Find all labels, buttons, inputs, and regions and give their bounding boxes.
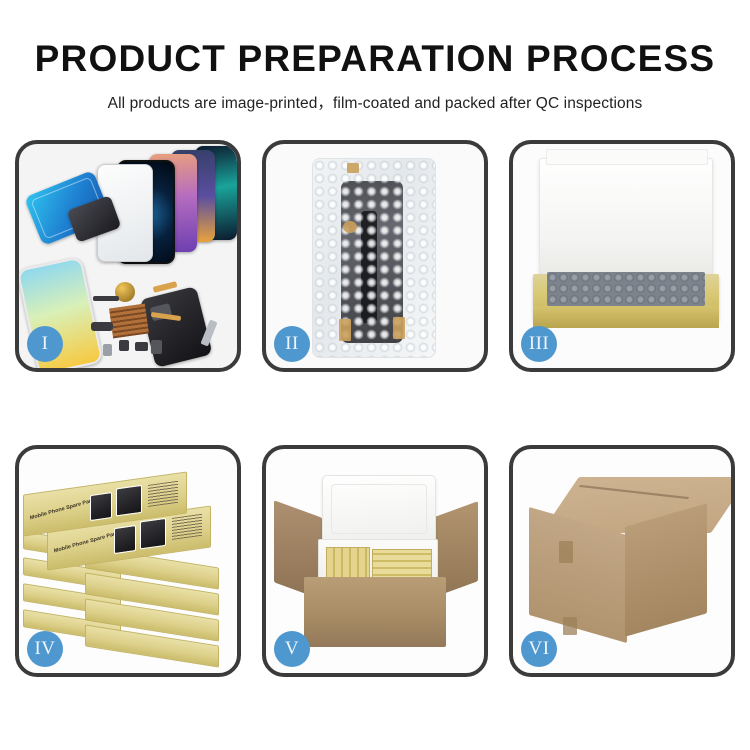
process-step-1: I [15,140,241,372]
step-badge-6: VI [521,631,557,667]
step-badge-3: III [521,326,557,362]
box-screen-image-1b [116,485,142,517]
small-part-5 [103,344,112,356]
step-5-image: V [266,449,484,673]
step-badge-5: V [274,631,310,667]
box-screen-image-2a [114,525,136,554]
yellow-box-front [533,306,719,328]
box-spec-lines-1 [148,481,178,507]
small-part-6 [151,340,162,354]
tape-bottom-right [393,317,405,339]
carton-body [304,577,446,647]
small-part-3 [119,340,129,351]
step-4-image: Mobile Phone Spare Parts Mobile Phone Sp… [19,449,237,673]
step-badge-1: I [27,326,63,362]
bubble-wrap-bag [312,158,436,358]
component-chip-grid [109,304,149,339]
carton-tape-upper [559,541,573,563]
small-part-1 [93,296,119,301]
step-badge-4: IV [27,631,63,667]
small-part-4 [135,342,148,351]
page-title: PRODUCT PREPARATION PROCESS [0,40,750,77]
gray-bubble-wrapped-items [547,272,705,306]
page-subtitle: All products are image-printed，film-coat… [0,91,750,113]
white-foam-lid [539,158,713,282]
process-step-4: Mobile Phone Spare Parts Mobile Phone Sp… [15,445,241,677]
box-screen-image-2b [140,518,166,550]
process-step-5: V [262,445,488,677]
step-2-image: II [266,144,484,368]
carton-tape-lower [563,617,577,635]
header: PRODUCT PREPARATION PROCESS All products… [0,0,750,113]
carton-right-face [625,503,707,637]
box-screen-image-1a [90,492,112,521]
box-label-1: Mobile Phone Spare Parts [30,497,97,521]
box-spec-lines-2 [172,514,202,540]
foam-box-lid [322,475,436,543]
small-part-2 [91,322,113,331]
step-1-image: I [19,144,237,368]
process-step-2: II [262,140,488,372]
process-step-grid: I II [15,140,735,677]
step-6-image: VI [513,449,731,673]
process-step-6: VI [509,445,735,677]
bubble-texture [313,159,435,357]
tape-top [347,163,359,173]
step-3-image: III [513,144,731,368]
phone-backplate [139,286,212,368]
tape-bottom-left [339,319,351,341]
box-label-2: Mobile Phone Spare Parts [54,530,121,554]
step-badge-2: II [274,326,310,362]
tape-middle [343,221,357,233]
product-preparation-infographic: PRODUCT PREPARATION PROCESS All products… [0,0,750,750]
process-step-3: III [509,140,735,372]
